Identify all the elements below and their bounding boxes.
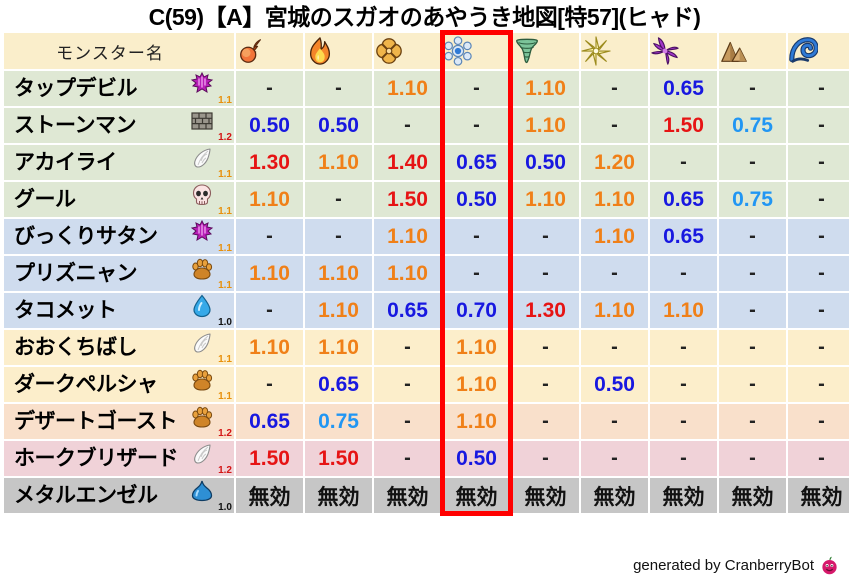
resistance-cell: 無効 xyxy=(581,478,648,513)
resistance-cell: - xyxy=(788,441,849,476)
monster-name-label: グール xyxy=(4,189,188,210)
resistance-cell: 1.10 xyxy=(374,71,441,106)
slime-icon: 1.0 xyxy=(188,478,234,513)
monster-name-cell[interactable]: アカイライ1.1 xyxy=(4,145,234,180)
resistance-table: モンスター名 xyxy=(2,31,849,515)
resistance-cell: - xyxy=(581,404,648,439)
snowflake-icon xyxy=(443,36,510,66)
resistance-cell: 0.50 xyxy=(512,145,579,180)
resistance-cell: - xyxy=(719,293,786,328)
resistance-cell: 0.75 xyxy=(719,182,786,217)
resistance-cell: - xyxy=(788,293,849,328)
column-header-doruma[interactable] xyxy=(650,33,717,69)
resistance-cell: 1.50 xyxy=(650,108,717,143)
monster-name-label: タップデビル xyxy=(4,78,188,99)
resistance-cell: - xyxy=(512,404,579,439)
resistance-cell: 無効 xyxy=(512,478,579,513)
monster-version-label: 1.1 xyxy=(218,244,232,254)
monster-name-cell[interactable]: びっくりサタン1.1 xyxy=(4,219,234,254)
resistance-cell: 1.10 xyxy=(512,182,579,217)
resistance-cell: - xyxy=(512,330,579,365)
column-header-hyado[interactable] xyxy=(443,33,510,69)
monster-name-label: デザートゴースト xyxy=(4,411,188,432)
resistance-cell: 1.50 xyxy=(236,441,303,476)
footer-text: generated by CranberryBot xyxy=(633,557,814,574)
resistance-cell: - xyxy=(443,71,510,106)
monster-version-label: 1.0 xyxy=(218,503,232,513)
resistance-cell: 0.70 xyxy=(443,293,510,328)
resistance-cell: 1.30 xyxy=(236,145,303,180)
resistance-cell: - xyxy=(512,256,579,291)
resistance-cell: 0.65 xyxy=(650,71,717,106)
resistance-cell: - xyxy=(581,330,648,365)
resistance-cell: - xyxy=(374,441,441,476)
resistance-cell: - xyxy=(581,256,648,291)
resistance-cell: 0.75 xyxy=(305,404,372,439)
monster-name-label: びっくりサタン xyxy=(4,226,188,247)
mountain-icon xyxy=(719,36,786,66)
resistance-cell: - xyxy=(305,219,372,254)
monster-name-label: ダークペルシャ xyxy=(4,374,188,395)
table-row: アカイライ1.11.301.101.400.650.501.20--- xyxy=(4,145,849,180)
resistance-cell: - xyxy=(581,108,648,143)
paw-icon: 1.1 xyxy=(188,256,234,291)
monster-version-label: 1.1 xyxy=(218,96,232,106)
resistance-cell: 1.10 xyxy=(512,108,579,143)
monster-name-cell[interactable]: デザートゴースト1.2 xyxy=(4,404,234,439)
monster-version-label: 1.1 xyxy=(218,355,232,365)
resistance-cell: 0.75 xyxy=(719,108,786,143)
resistance-cell: - xyxy=(443,256,510,291)
resistance-cell: 1.10 xyxy=(443,404,510,439)
monster-version-label: 1.1 xyxy=(218,207,232,217)
demon-trident-icon: 1.1 xyxy=(188,71,234,106)
resistance-cell: 1.10 xyxy=(305,293,372,328)
name-column-header: モンスター名 xyxy=(4,33,234,69)
table-row: デザートゴースト1.20.650.75-1.10----- xyxy=(4,404,849,439)
resistance-cell: 1.20 xyxy=(581,145,648,180)
flame-icon xyxy=(305,36,372,66)
resistance-cell: 無効 xyxy=(236,478,303,513)
resistance-cell: - xyxy=(788,219,849,254)
water-drop-icon: 1.0 xyxy=(188,293,234,328)
monster-version-label: 1.0 xyxy=(218,318,232,328)
column-header-gira[interactable] xyxy=(305,33,372,69)
resistance-cell: - xyxy=(581,71,648,106)
monster-name-cell[interactable]: プリズニャン1.1 xyxy=(4,256,234,291)
resistance-cell: 0.65 xyxy=(650,219,717,254)
monster-name-cell[interactable]: メタルエンゼル1.0 xyxy=(4,478,234,513)
table-row: ダークペルシャ1.1-0.65-1.10-0.50--- xyxy=(4,367,849,402)
resistance-cell: 1.10 xyxy=(581,182,648,217)
resistance-cell: 1.10 xyxy=(374,219,441,254)
resistance-cell: - xyxy=(374,404,441,439)
monster-name-cell[interactable]: タップデビル1.1 xyxy=(4,71,234,106)
resistance-cell: 1.10 xyxy=(305,145,372,180)
demon-trident-icon: 1.1 xyxy=(188,219,234,254)
feather-icon: 1.1 xyxy=(188,330,234,365)
resistance-cell: - xyxy=(581,441,648,476)
monster-name-label: おおくちばし xyxy=(4,337,188,358)
resistance-cell: 1.50 xyxy=(305,441,372,476)
resistance-cell: - xyxy=(719,71,786,106)
resistance-cell: - xyxy=(512,367,579,402)
monster-version-label: 1.1 xyxy=(218,170,232,180)
monster-version-label: 1.2 xyxy=(218,133,232,143)
resistance-cell: 1.10 xyxy=(581,293,648,328)
resistance-cell: 0.65 xyxy=(374,293,441,328)
resistance-cell: - xyxy=(788,330,849,365)
monster-name-label: ストーンマン xyxy=(4,115,188,136)
resistance-cell: 無効 xyxy=(719,478,786,513)
resistance-cell: 1.30 xyxy=(512,293,579,328)
monster-name-label: メタルエンゼル xyxy=(4,485,188,506)
column-header-dein[interactable] xyxy=(581,33,648,69)
resistance-cell: 1.10 xyxy=(443,367,510,402)
resistance-cell: - xyxy=(719,367,786,402)
resistance-cell: 0.50 xyxy=(305,108,372,143)
resistance-cell: 1.10 xyxy=(512,71,579,106)
monster-name-label: ホークブリザード xyxy=(4,448,188,469)
resistance-cell: 1.50 xyxy=(374,182,441,217)
monster-name-label: タコメット xyxy=(4,300,188,321)
resistance-cell: - xyxy=(512,441,579,476)
resistance-cell: - xyxy=(512,219,579,254)
skull-icon: 1.1 xyxy=(188,182,234,217)
resistance-cell: 1.10 xyxy=(650,293,717,328)
resistance-cell: - xyxy=(374,108,441,143)
resistance-cell: 1.10 xyxy=(443,330,510,365)
wave-icon xyxy=(788,36,849,66)
column-header-jibaria[interactable] xyxy=(719,33,786,69)
resistance-cell: - xyxy=(443,108,510,143)
resistance-cell: - xyxy=(650,145,717,180)
resistance-cell: 1.10 xyxy=(374,256,441,291)
page-title: C(59)【A】宮城のスガオのあやうき地図[特57](ヒャド) xyxy=(0,0,849,31)
column-header-hyadaruko[interactable] xyxy=(788,33,849,69)
table-header-row: モンスター名 xyxy=(4,33,849,69)
resistance-cell: - xyxy=(719,330,786,365)
monster-name-cell[interactable]: おおくちばし1.1 xyxy=(4,330,234,365)
resistance-cell: - xyxy=(719,256,786,291)
resistance-cell: - xyxy=(650,330,717,365)
table-row: ホークブリザード1.21.501.50-0.50----- xyxy=(4,441,849,476)
table-row: メタルエンゼル1.0無効無効無効無効無効無効無効無効無効 xyxy=(4,478,849,513)
footer-credit: generated by CranberryBot xyxy=(633,556,839,575)
resistance-cell: 0.65 xyxy=(443,145,510,180)
resistance-cell: 1.10 xyxy=(581,219,648,254)
resistance-cell: 1.10 xyxy=(305,256,372,291)
feather-icon: 1.2 xyxy=(188,441,234,476)
monster-name-cell[interactable]: ダークペルシャ1.1 xyxy=(4,367,234,402)
resistance-cell: 無効 xyxy=(305,478,372,513)
resistance-cell: 0.50 xyxy=(581,367,648,402)
resistance-cell: 0.50 xyxy=(236,108,303,143)
paw-icon: 1.1 xyxy=(188,367,234,402)
resistance-cell: 無効 xyxy=(374,478,441,513)
resistance-cell: 0.65 xyxy=(650,182,717,217)
resistance-cell: - xyxy=(788,182,849,217)
monster-version-label: 1.1 xyxy=(218,392,232,402)
resistance-cell: - xyxy=(788,404,849,439)
resistance-cell: - xyxy=(650,256,717,291)
resistance-cell: 1.10 xyxy=(305,330,372,365)
resistance-cell: 無効 xyxy=(443,478,510,513)
table-row: プリズニャン1.11.101.101.10------ xyxy=(4,256,849,291)
resistance-cell: - xyxy=(719,219,786,254)
resistance-cell: - xyxy=(650,404,717,439)
table-row: ストーンマン1.20.500.50--1.10-1.500.75- xyxy=(4,108,849,143)
resistance-cell: - xyxy=(719,404,786,439)
table-row: おおくちばし1.11.101.10-1.10----- xyxy=(4,330,849,365)
resistance-cell: - xyxy=(236,71,303,106)
monster-name-cell[interactable]: ホークブリザード1.2 xyxy=(4,441,234,476)
resistance-cell: - xyxy=(374,330,441,365)
table-body: タップデビル1.1--1.10-1.10-0.65--ストーンマン1.20.50… xyxy=(4,71,849,513)
resistance-cell: 0.65 xyxy=(236,404,303,439)
cranberry-bot-icon xyxy=(820,556,839,575)
resistance-cell: 1.10 xyxy=(236,330,303,365)
resistance-cell: 0.65 xyxy=(305,367,372,402)
resistance-cell: - xyxy=(788,71,849,106)
resistance-cell: 1.40 xyxy=(374,145,441,180)
meteor-icon xyxy=(236,36,303,66)
column-header-mera[interactable] xyxy=(236,33,303,69)
monster-name-label: プリズニャン xyxy=(4,263,188,284)
feather-icon: 1.1 xyxy=(188,145,234,180)
resistance-cell: - xyxy=(236,367,303,402)
resistance-cell: - xyxy=(650,441,717,476)
monster-version-label: 1.1 xyxy=(218,281,232,291)
monster-name-cell[interactable]: タコメット1.0 xyxy=(4,293,234,328)
resistance-cell: - xyxy=(650,367,717,402)
brick-wall-icon: 1.2 xyxy=(188,108,234,143)
table-row: タップデビル1.1--1.10-1.10-0.65-- xyxy=(4,71,849,106)
table-row: びっくりサタン1.1--1.10--1.100.65-- xyxy=(4,219,849,254)
table-row: グール1.11.10-1.500.501.101.100.650.75- xyxy=(4,182,849,217)
resistance-cell: - xyxy=(788,108,849,143)
explosion-icon xyxy=(374,36,441,66)
resistance-cell: - xyxy=(788,367,849,402)
resistance-cell: - xyxy=(305,182,372,217)
monster-name-label: アカイライ xyxy=(4,152,188,173)
resistance-cell: 無効 xyxy=(650,478,717,513)
resistance-cell: 0.50 xyxy=(443,441,510,476)
table-row: タコメット1.0-1.100.650.701.301.101.10-- xyxy=(4,293,849,328)
resistance-cell: 1.10 xyxy=(236,182,303,217)
resistance-cell: 0.50 xyxy=(443,182,510,217)
monster-name-cell[interactable]: グール1.1 xyxy=(4,182,234,217)
resistance-cell: - xyxy=(788,145,849,180)
dark-flower-icon xyxy=(650,36,717,66)
resistance-cell: - xyxy=(374,367,441,402)
column-header-io[interactable] xyxy=(374,33,441,69)
column-header-bagi[interactable] xyxy=(512,33,579,69)
resistance-cell: 1.10 xyxy=(236,256,303,291)
resistance-cell: - xyxy=(443,219,510,254)
resistance-cell: - xyxy=(236,293,303,328)
resistance-cell: - xyxy=(719,145,786,180)
light-star-icon xyxy=(581,36,648,66)
monster-version-label: 1.2 xyxy=(218,429,232,439)
tornado-icon xyxy=(512,36,579,66)
resistance-cell: - xyxy=(788,256,849,291)
monster-version-label: 1.2 xyxy=(218,466,232,476)
resistance-cell: - xyxy=(305,71,372,106)
monster-name-cell[interactable]: ストーンマン1.2 xyxy=(4,108,234,143)
resistance-cell: - xyxy=(236,219,303,254)
paw-icon: 1.2 xyxy=(188,404,234,439)
resistance-cell: - xyxy=(719,441,786,476)
resistance-cell: 無効 xyxy=(788,478,849,513)
